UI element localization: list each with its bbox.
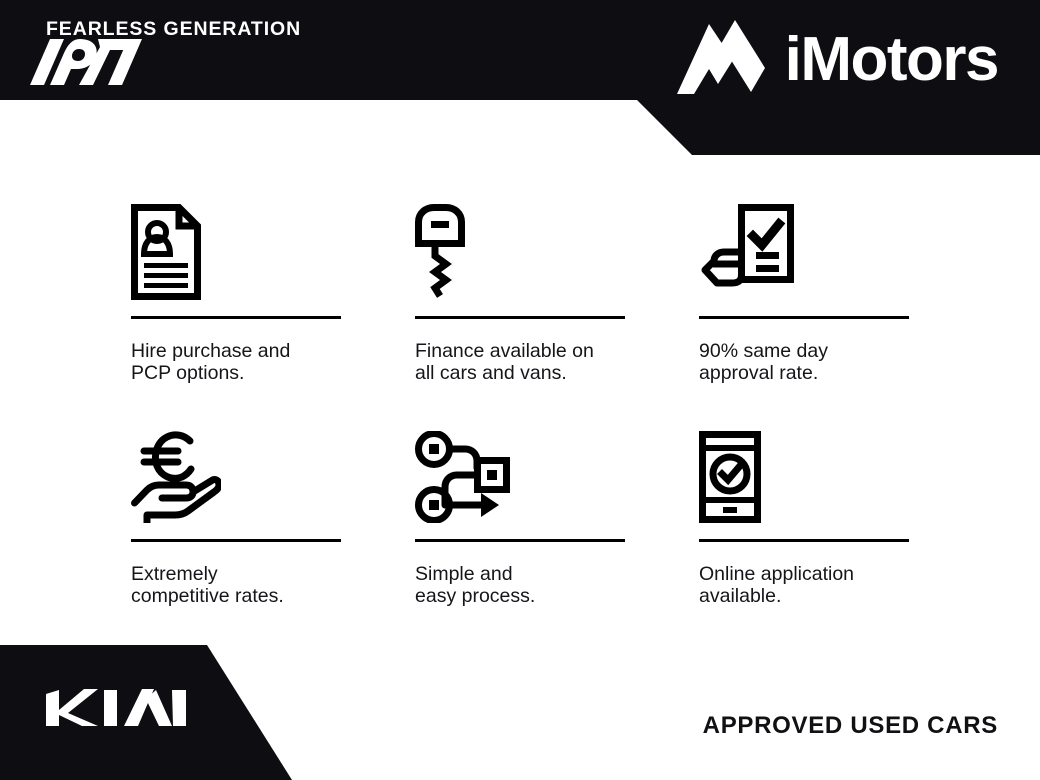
feature-row: Extremely competitive rates.	[0, 413, 1040, 607]
feature-label: 90% same day approval rate.	[699, 340, 909, 384]
hand-holding-approved-document-icon	[699, 190, 909, 300]
feature-divider	[415, 316, 625, 319]
feature-label: Finance available on all cars and vans.	[415, 340, 625, 384]
feature-item-finance-available: Finance available on all cars and vans.	[415, 190, 625, 384]
smartphone-check-icon	[699, 413, 909, 523]
feature-item-approval-rate: 90% same day approval rate.	[699, 190, 909, 384]
feature-label: Simple and easy process.	[415, 563, 625, 607]
process-flowchart-icon	[415, 413, 625, 523]
imotors-wordmark: iMotors	[785, 29, 998, 91]
header-bar: FEARLESS GENERATION	[0, 0, 1040, 155]
feature-divider	[131, 316, 341, 319]
year-1971-logo	[30, 39, 142, 85]
feature-item-easy-process: Simple and easy process.	[415, 413, 625, 607]
promotional-banner: FEARLESS GENERATION	[0, 0, 1040, 780]
feature-row: Hire purchase and PCP options. Finance a…	[0, 190, 1040, 384]
imotors-chevron-mark-icon	[673, 16, 769, 104]
feature-divider	[131, 539, 341, 542]
feature-divider	[699, 539, 909, 542]
feature-item-hire-purchase: Hire purchase and PCP options.	[131, 190, 341, 384]
feature-item-online-application: Online application available.	[699, 413, 909, 607]
feature-label: Online application available.	[699, 563, 909, 607]
kia-logo	[46, 686, 186, 730]
euro-in-hand-icon	[131, 413, 341, 523]
feature-item-competitive-rates: Extremely competitive rates.	[131, 413, 341, 607]
footer-tagline: APPROVED USED CARS	[703, 712, 998, 740]
document-person-icon	[131, 190, 341, 300]
feature-label: Extremely competitive rates.	[131, 563, 341, 607]
header-tagline: FEARLESS GENERATION	[46, 18, 301, 41]
feature-label: Hire purchase and PCP options.	[131, 340, 341, 384]
car-key-icon	[415, 190, 625, 300]
imotors-logo-lockup: iMotors	[673, 16, 998, 104]
feature-grid: Hire purchase and PCP options. Finance a…	[0, 190, 1040, 607]
feature-divider	[699, 316, 909, 319]
feature-divider	[415, 539, 625, 542]
